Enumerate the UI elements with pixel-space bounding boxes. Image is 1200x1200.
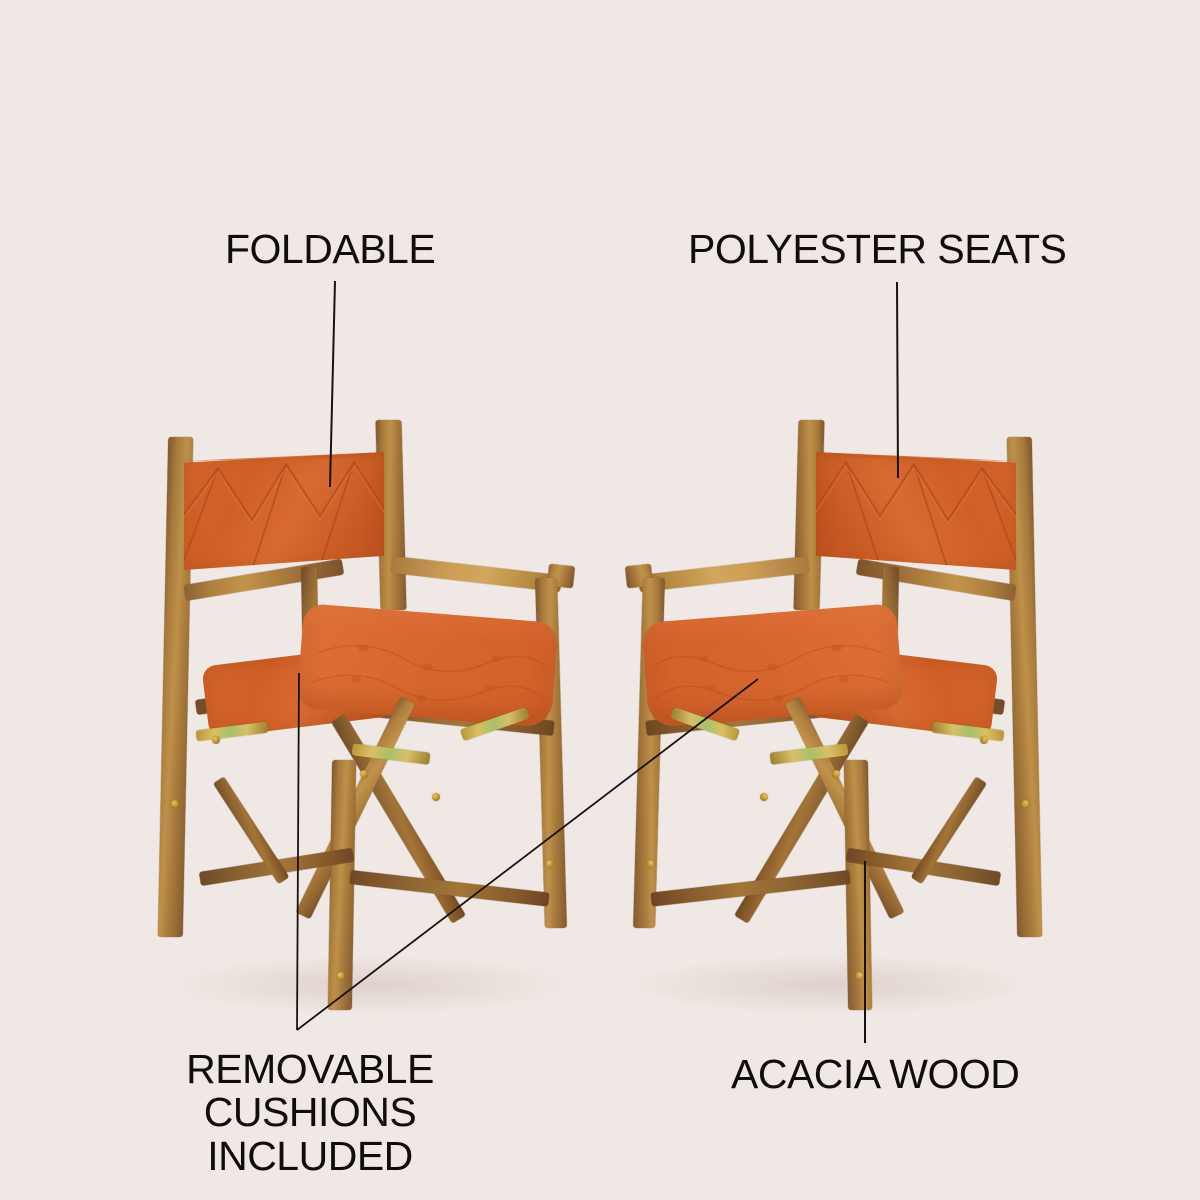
leader-line-polyester-seats xyxy=(897,282,898,478)
callout-label-removable-cushions-line1: REMOVABLE xyxy=(186,1046,434,1092)
callout-label-polyester-seats: POLYESTER SEATS xyxy=(688,228,1066,271)
leader-line-foldable xyxy=(330,281,335,487)
callout-label-acacia-wood: ACACIA WOOD xyxy=(731,1053,1019,1096)
product-infographic: FOLDABLE POLYESTER SEATS REMOVABLE CUSHI… xyxy=(0,0,1200,1200)
callout-label-removable-cushions: REMOVABLE CUSHIONS INCLUDED xyxy=(110,1048,510,1178)
callout-leader-lines xyxy=(0,0,1200,1200)
leader-line-cushion-right xyxy=(297,679,758,1030)
leader-line-cushion-left xyxy=(297,673,299,1030)
callout-label-removable-cushions-line2: CUSHIONS INCLUDED xyxy=(110,1091,510,1178)
callout-label-foldable: FOLDABLE xyxy=(225,228,435,271)
